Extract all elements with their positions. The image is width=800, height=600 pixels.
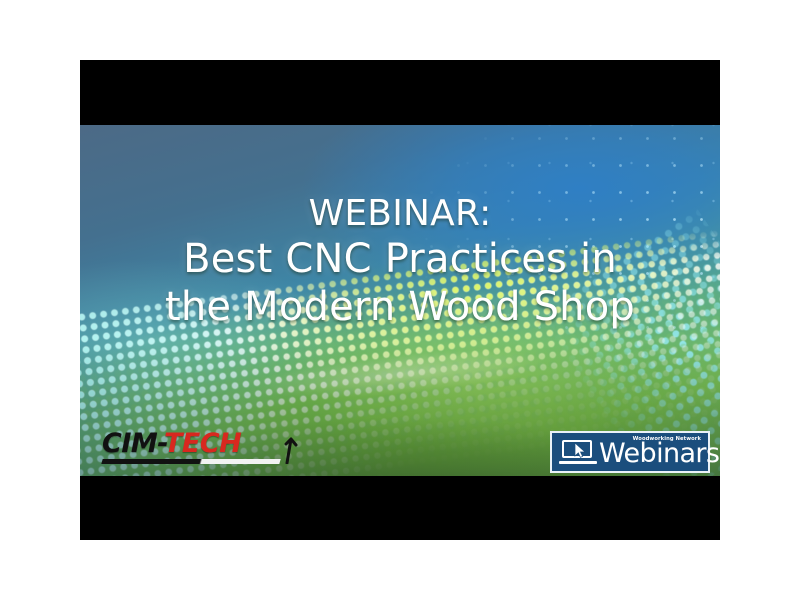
webinars-logo[interactable]: Woodworking Network Webinars [550, 431, 710, 473]
webinar-title-slide: WEBINAR: Best CNC Practices in the Moder… [80, 125, 720, 476]
cim-tech-text-tech: TECH [164, 428, 241, 459]
cim-tech-underbar [101, 459, 280, 464]
slide-headline: WEBINAR: Best CNC Practices in the Moder… [80, 192, 720, 331]
page-root: WEBINAR: Best CNC Practices in the Moder… [0, 0, 800, 600]
headline-line-2: Best CNC Practices in [80, 235, 720, 283]
video-letterbox-frame[interactable]: WEBINAR: Best CNC Practices in the Moder… [80, 60, 720, 540]
headline-line-3: the Modern Wood Shop [80, 283, 720, 331]
laptop-with-cursor-icon [559, 439, 597, 465]
headline-line-1: WEBINAR: [80, 192, 720, 235]
laptop-base-icon [559, 461, 597, 464]
webinars-text-block: Woodworking Network Webinars [597, 433, 703, 471]
cim-tech-text-cim: CIM- [102, 428, 164, 459]
cim-tech-wordmark: CIM-TECH [102, 430, 241, 458]
cim-tech-logo: CIM-TECH [102, 430, 300, 470]
webinars-wordmark: Webinars [599, 439, 719, 469]
